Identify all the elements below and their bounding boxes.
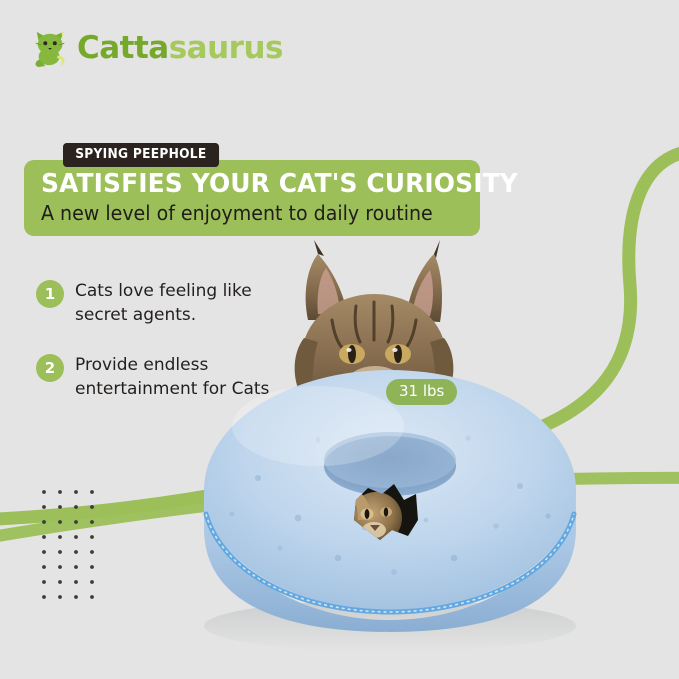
cat-eye <box>385 344 411 364</box>
brand-logo[interactable]: Cattasaurus <box>32 28 283 68</box>
brand-name-bold: Catta <box>77 30 169 66</box>
brand-wordmark: Cattasaurus <box>77 33 283 64</box>
cat-eye <box>339 344 365 364</box>
eyebrow-badge: SPYING PEEPHOLE <box>63 143 219 167</box>
brand-name-light: saurus <box>169 30 283 66</box>
ear-tuft <box>434 240 440 258</box>
benefit-number-badge: 2 <box>36 354 64 382</box>
headline-text: SATISFIES YOUR CAT'S CURIOSITY <box>41 170 463 198</box>
subheadline-text: A new level of enjoyment to daily routin… <box>41 201 459 225</box>
cat-mascot-icon <box>32 28 70 68</box>
dot-grid-pattern <box>40 488 106 608</box>
ear-tuft <box>314 240 324 256</box>
benefit-number-badge: 1 <box>36 280 64 308</box>
product-photo <box>168 228 608 658</box>
product-infographic: Cattasaurus SATISFIES YOUR CAT'S CURIOSI… <box>0 0 679 679</box>
weight-badge: 31 lbs <box>386 379 457 405</box>
